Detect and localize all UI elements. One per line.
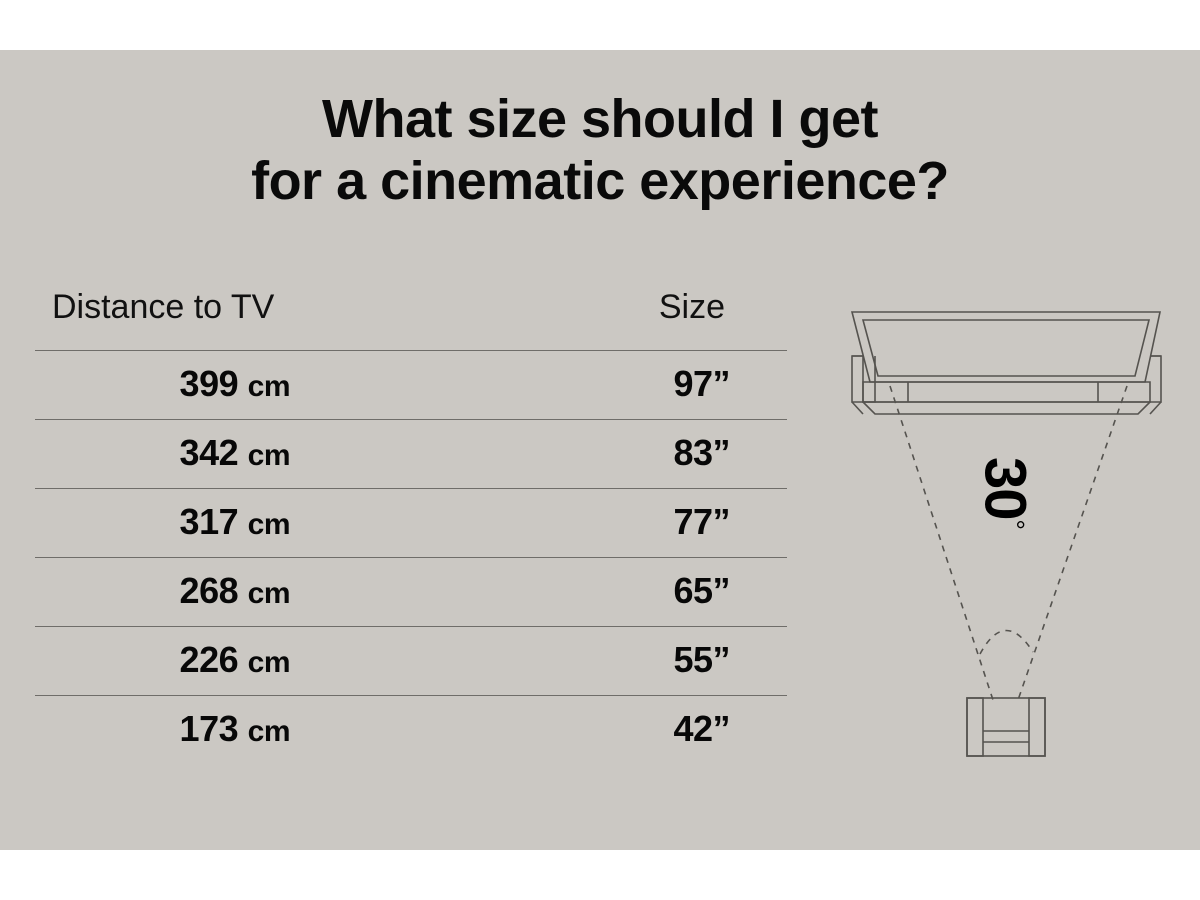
distance-unit: cm	[248, 715, 290, 748]
viewing-angle-arc	[980, 630, 1033, 654]
size-distance-table: Distance to TV Size 399 cm 97” 342 cm 83…	[35, 288, 787, 764]
column-header-distance: Distance to TV	[52, 288, 274, 327]
cell-distance: 317 cm	[35, 501, 290, 543]
page-title-line-1: What size should I get	[0, 88, 1200, 150]
table-row: 317 cm 77”	[35, 488, 787, 557]
degree-symbol: °	[1000, 520, 1030, 529]
tv-top-view	[852, 312, 1161, 414]
viewing-angle-text: 30°	[972, 457, 1039, 529]
distance-value: 226	[180, 639, 239, 680]
viewing-angle-label: 30°	[975, 428, 1035, 558]
page-title: What size should I get for a cinematic e…	[0, 88, 1200, 212]
screenshot-root: What size should I get for a cinematic e…	[0, 0, 1200, 900]
cell-size: 83”	[590, 432, 730, 474]
table-header-row: Distance to TV Size	[35, 288, 787, 350]
table-row: 342 cm 83”	[35, 419, 787, 488]
distance-value: 342	[180, 432, 239, 473]
sofa-top-view	[967, 698, 1045, 756]
cell-distance: 173 cm	[35, 708, 290, 750]
cell-size: 77”	[590, 501, 730, 543]
distance-unit: cm	[248, 646, 290, 679]
cell-size: 42”	[590, 708, 730, 750]
page-title-line-2: for a cinematic experience?	[0, 150, 1200, 212]
distance-unit: cm	[248, 439, 290, 472]
cell-size: 97”	[590, 363, 730, 405]
distance-value: 399	[180, 363, 239, 404]
cell-size: 55”	[590, 639, 730, 681]
cell-distance: 268 cm	[35, 570, 290, 612]
cell-distance: 399 cm	[35, 363, 290, 405]
cell-distance: 226 cm	[35, 639, 290, 681]
viewing-angle-value: 30	[973, 457, 1038, 520]
cell-size: 65”	[590, 570, 730, 612]
table-row: 226 cm 55”	[35, 626, 787, 695]
distance-unit: cm	[248, 577, 290, 610]
distance-unit: cm	[248, 508, 290, 541]
distance-value: 268	[180, 570, 239, 611]
distance-value: 173	[180, 708, 239, 749]
column-header-size: Size	[659, 288, 725, 327]
distance-value: 317	[180, 501, 239, 542]
table-row: 268 cm 65”	[35, 557, 787, 626]
distance-unit: cm	[248, 370, 290, 403]
table-row: 173 cm 42”	[35, 695, 787, 764]
table-row: 399 cm 97”	[35, 350, 787, 419]
cell-distance: 342 cm	[35, 432, 290, 474]
